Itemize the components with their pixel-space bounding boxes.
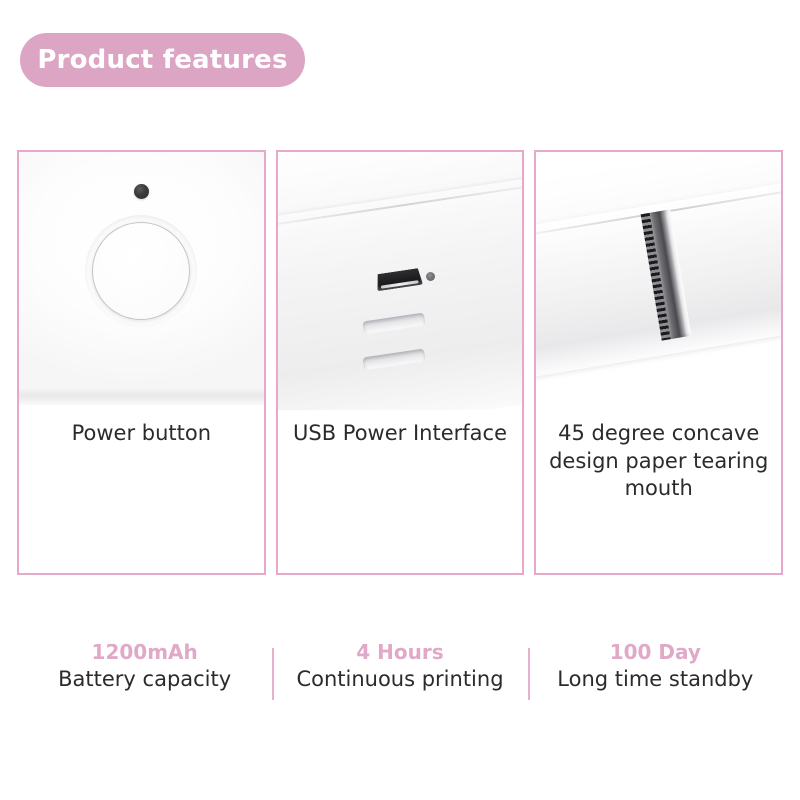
spec-label-continuous-printing: Continuous printing — [296, 665, 503, 693]
spec-continuous-printing: 4 Hours Continuous printing — [272, 640, 527, 710]
device-side-image — [278, 152, 523, 410]
feature-caption-power-button: Power button — [19, 410, 264, 448]
feature-panels-row: Power button USB Power Interface — [17, 150, 783, 575]
feature-caption-usb-interface: USB Power Interface — [278, 410, 523, 448]
spec-value-continuous-printing: 4 Hours — [356, 640, 443, 665]
spec-value-battery-capacity: 1200mAh — [92, 640, 198, 665]
feature-caption-tearing-mouth: 45 degree concave design paper tearing m… — [536, 410, 781, 503]
power-button-photo — [19, 152, 264, 410]
device-side-surface — [278, 176, 523, 410]
page-title-badge: Product features — [20, 33, 305, 87]
feature-panel-tearing-mouth: 45 degree concave design paper tearing m… — [534, 150, 783, 575]
feature-panel-usb-interface: USB Power Interface — [276, 150, 525, 575]
spec-standby-time: 100 Day Long time standby — [528, 640, 783, 710]
spec-battery-capacity: 1200mAh Battery capacity — [17, 640, 272, 710]
spec-label-standby-time: Long time standby — [557, 665, 753, 693]
page-title: Product features — [37, 45, 287, 75]
usb-interface-photo — [278, 152, 523, 410]
led-indicator-icon — [134, 184, 149, 199]
spec-label-battery-capacity: Battery capacity — [58, 665, 231, 693]
device-edge-image — [536, 152, 781, 410]
spec-value-standby-time: 100 Day — [610, 640, 701, 665]
power-button-icon — [92, 222, 190, 320]
tearing-mouth-photo — [536, 152, 781, 410]
reset-pinhole-icon — [426, 272, 435, 281]
feature-panel-power-button: Power button — [17, 150, 266, 575]
device-face-edge — [19, 389, 264, 405]
specifications-row: 1200mAh Battery capacity 4 Hours Continu… — [17, 640, 783, 710]
